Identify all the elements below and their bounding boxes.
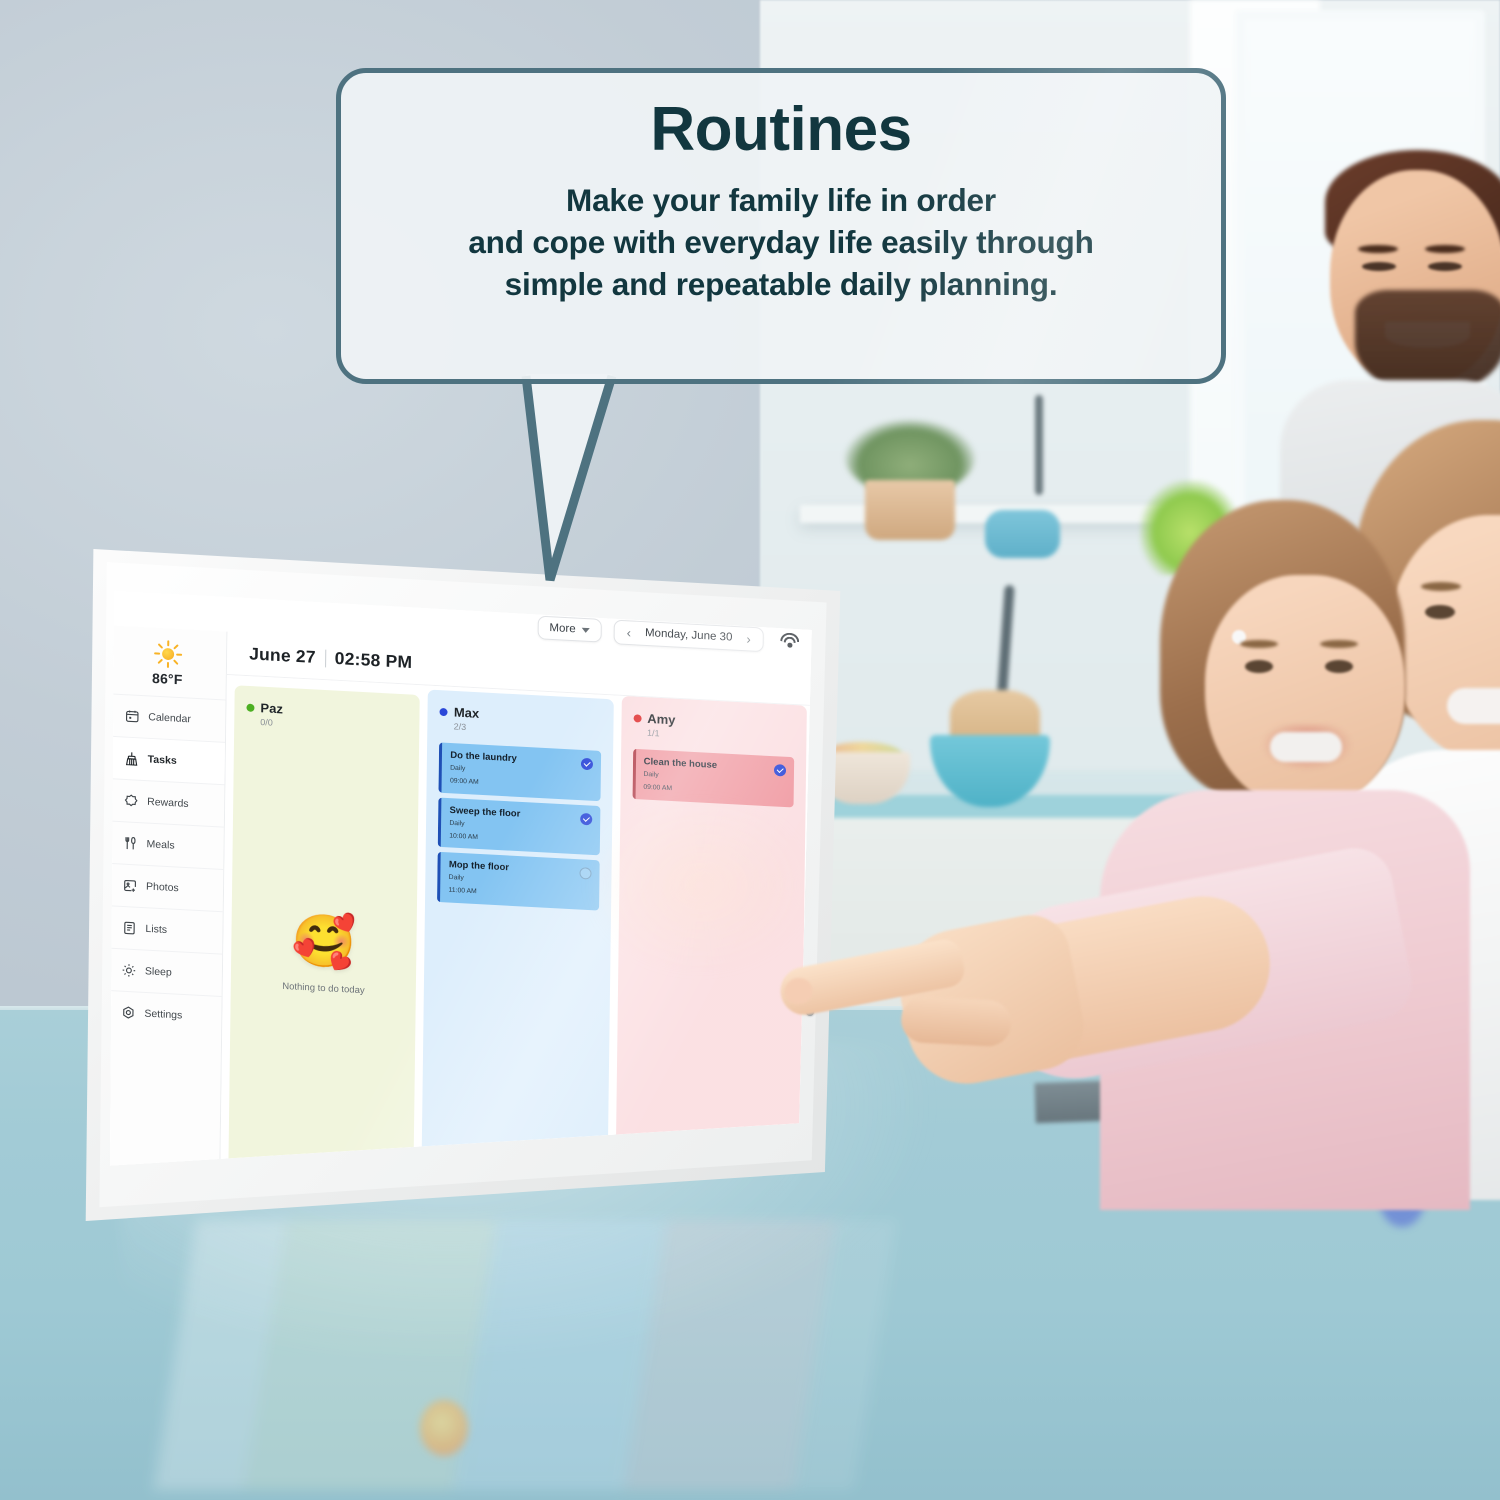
column-name-amy: Amy bbox=[647, 711, 675, 727]
thumb bbox=[900, 996, 1012, 1048]
hanging-utensil bbox=[1035, 395, 1043, 495]
father-eye-right bbox=[1428, 262, 1462, 271]
sidebar-label-photos: Photos bbox=[146, 881, 179, 895]
calendar-icon bbox=[124, 708, 140, 725]
sidebar-item-lists[interactable]: Lists bbox=[110, 905, 223, 954]
sidebar-nav: Calendar Tasks bbox=[110, 693, 226, 1038]
father-eye-left bbox=[1362, 262, 1396, 271]
promo-subtitle-line-2: and cope with everyday life easily throu… bbox=[468, 222, 1093, 264]
status-dot-max bbox=[440, 707, 448, 715]
sidebar-item-calendar[interactable]: Calendar bbox=[110, 693, 226, 742]
sidebar-label-tasks: Tasks bbox=[148, 754, 177, 767]
task-row[interactable]: Sweep the floor Daily 10:00 AM bbox=[438, 797, 600, 855]
sidebar-label-sleep: Sleep bbox=[145, 965, 172, 978]
first-girl-eye-left bbox=[1245, 660, 1273, 673]
prev-day-button[interactable]: ‹ bbox=[627, 626, 632, 639]
temperature-label: 86°F bbox=[152, 670, 183, 687]
empty-state-text: Nothing to do today bbox=[282, 981, 365, 996]
promo-subtitle: Make your family life in order and cope … bbox=[468, 180, 1093, 306]
second-girl-mouth bbox=[1447, 688, 1500, 724]
task-checkbox-checked[interactable] bbox=[581, 758, 593, 770]
promo-speech-bubble: Routines Make your family life in order … bbox=[336, 68, 1226, 384]
sidebar-item-sleep[interactable]: Sleep bbox=[110, 947, 222, 996]
column-name-paz: Paz bbox=[260, 700, 283, 716]
sidebar-label-lists: Lists bbox=[145, 923, 167, 936]
header-time: 02:58 PM bbox=[335, 648, 413, 673]
gear-icon bbox=[120, 1004, 136, 1021]
sun-sleep-icon bbox=[121, 962, 137, 979]
father-brow-left bbox=[1358, 245, 1398, 253]
task-checkbox-checked[interactable] bbox=[774, 764, 786, 776]
sidebar-item-tasks[interactable]: Tasks bbox=[110, 736, 225, 785]
sidebar-label-rewards: Rewards bbox=[147, 796, 189, 810]
sidebar-label-settings: Settings bbox=[144, 1008, 182, 1022]
father-brow-right bbox=[1425, 245, 1465, 253]
sidebar-label-calendar: Calendar bbox=[148, 711, 191, 725]
star-badge-icon bbox=[123, 793, 139, 810]
first-girl-face bbox=[1205, 575, 1405, 810]
sidebar-item-rewards[interactable]: Rewards bbox=[110, 778, 224, 827]
first-girl-brow-left bbox=[1240, 640, 1278, 648]
task-row[interactable]: Mop the floor Daily 11:00 AM bbox=[437, 852, 599, 910]
sidebar-item-meals[interactable]: Meals bbox=[110, 820, 224, 869]
wifi-icon bbox=[780, 632, 800, 649]
promo-title: Routines bbox=[650, 95, 911, 164]
header-date: June 27 bbox=[249, 644, 316, 668]
task-list-max: Do the laundry Daily 09:00 AM Sweep the … bbox=[437, 742, 600, 910]
column-paz[interactable]: Paz 0/0 🥰 Nothing to do today bbox=[228, 685, 420, 1181]
speech-bubble-tail bbox=[520, 374, 640, 584]
first-girl-brow-right bbox=[1320, 640, 1358, 648]
chevron-down-icon bbox=[582, 627, 590, 632]
status-dot-amy bbox=[633, 714, 641, 722]
column-name-max: Max bbox=[454, 705, 479, 721]
reflected-emoji bbox=[420, 1400, 468, 1456]
task-row[interactable]: Do the laundry Daily 09:00 AM bbox=[439, 742, 601, 800]
list-doc-icon bbox=[121, 920, 137, 937]
potted-plant-pot bbox=[865, 480, 955, 540]
smiling-hearts-emoji: 🥰 bbox=[291, 915, 356, 970]
weather-widget: 86°F bbox=[110, 631, 226, 699]
more-button-label: More bbox=[549, 622, 575, 635]
current-date-label: Monday, June 30 bbox=[645, 627, 733, 643]
broom-icon bbox=[124, 750, 140, 767]
promo-subtitle-line-1: Make your family life in order bbox=[468, 180, 1093, 222]
first-girl-eye-right bbox=[1325, 660, 1353, 673]
empty-state-paz: 🥰 Nothing to do today bbox=[231, 912, 417, 1000]
header-separator bbox=[325, 649, 326, 667]
cutlery-icon bbox=[122, 835, 138, 852]
photo-add-icon bbox=[122, 877, 138, 894]
blue-jar bbox=[985, 510, 1060, 558]
first-girl-teeth bbox=[1270, 732, 1342, 762]
sidebar-item-photos[interactable]: Photos bbox=[110, 863, 223, 912]
sidebar: 86°F Calendar bbox=[110, 625, 227, 1181]
sidebar-label-meals: Meals bbox=[147, 838, 175, 851]
status-dot-paz bbox=[246, 703, 254, 711]
sun-icon bbox=[152, 639, 182, 670]
more-button[interactable]: More bbox=[537, 616, 602, 643]
next-day-button[interactable]: › bbox=[746, 632, 751, 645]
screen-reflection bbox=[154, 1220, 897, 1490]
promo-subtitle-line-3: simple and repeatable daily planning. bbox=[468, 264, 1093, 306]
sidebar-item-settings[interactable]: Settings bbox=[110, 990, 222, 1039]
